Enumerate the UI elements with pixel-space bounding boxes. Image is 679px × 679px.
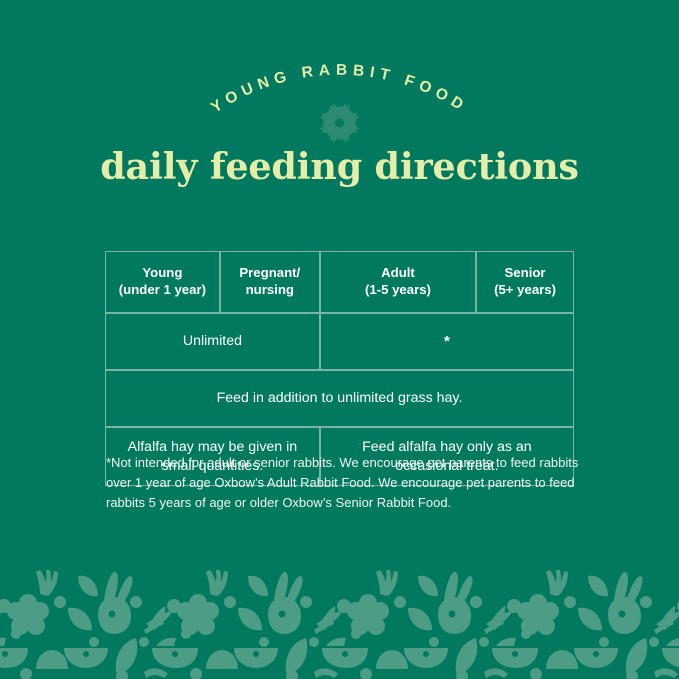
table-cell-grass-hay: Feed in addition to unlimited grass hay. — [105, 370, 574, 427]
botanical-rabbit-pattern — [0, 564, 679, 679]
table-header-cell-senior: Senior (5+ years) — [476, 251, 574, 313]
page-title: daily feeding directions — [0, 146, 679, 188]
footnote-text: *Not intended for adult or senior rabbit… — [106, 453, 580, 513]
header-line2: (5+ years) — [494, 282, 556, 297]
header-line1: Senior — [505, 265, 546, 280]
header-line1: Pregnant/ — [239, 265, 300, 280]
table-header-cell-young: Young (under 1 year) — [105, 251, 220, 313]
table-header-cell-pregnant: Pregnant/ nursing — [220, 251, 320, 313]
table-header-row: Young (under 1 year) Pregnant/ nursing A… — [105, 251, 574, 313]
header-line2: (1-5 years) — [365, 282, 431, 297]
table-header-cell-adult: Adult (1-5 years) — [320, 251, 476, 313]
table-row: Unlimited * — [105, 313, 574, 370]
feeding-directions-panel: YOUNG RABBIT FOOD daily feeding direc — [0, 0, 679, 679]
rosette-flower-icon — [312, 98, 367, 148]
table-row: Feed in addition to unlimited grass hay. — [105, 370, 574, 427]
header-line1: Young — [142, 265, 182, 280]
table-cell-unlimited: Unlimited — [105, 313, 320, 370]
feeding-table: Young (under 1 year) Pregnant/ nursing A… — [105, 251, 574, 486]
header-line2: (under 1 year) — [119, 282, 206, 297]
header-line1: Adult — [381, 265, 415, 280]
header-line2: nursing — [246, 282, 294, 297]
table-cell-asterisk: * — [320, 313, 574, 370]
